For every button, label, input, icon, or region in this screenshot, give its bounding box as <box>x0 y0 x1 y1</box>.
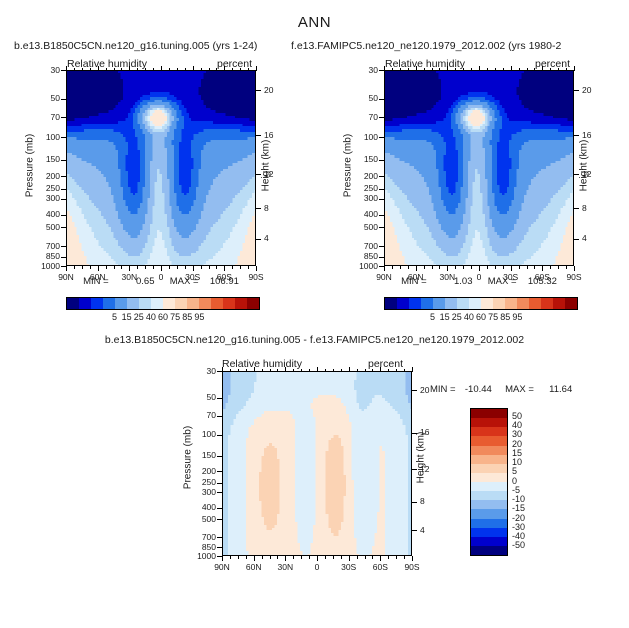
diff-lat-minor-tick-top <box>238 369 239 372</box>
diff-lat-minor-tick <box>238 556 239 559</box>
right-pressure-tickmark <box>379 99 384 100</box>
left-lat-minor-tick <box>161 266 162 269</box>
left-pressure-tick-label: 500 <box>26 222 60 232</box>
left-height-tickmark <box>256 239 261 240</box>
left-pressure-tickmark <box>61 189 66 190</box>
left-pressure-tickmark <box>61 99 66 100</box>
diff-height-tickmark <box>412 390 417 391</box>
left-variable-label: Relative humidity <box>67 58 147 70</box>
right-lat-minor-tick <box>550 266 551 269</box>
diff-pressure-tick-label: 1000 <box>182 551 216 561</box>
right-pressure-tick-label: 50 <box>344 93 378 103</box>
diff-lat-minor-tick-top <box>341 369 342 372</box>
left-lat-minor-tick <box>137 266 138 269</box>
colorbar-swatch <box>127 298 139 309</box>
colorbar-swatch <box>517 298 529 309</box>
right-height-tickmark <box>574 208 579 209</box>
diff-pressure-tickmark <box>217 537 222 538</box>
right-panel-title: f.e13.FAMIPC5.ne120_ne120.1979_2012.002 … <box>291 40 561 52</box>
left-lat-minor-tick-top <box>106 68 107 71</box>
diff-pressure-tick-label: 250 <box>182 477 216 487</box>
left-lat-minor-tick-top <box>153 68 154 71</box>
right-lat-minor-tick-top <box>471 68 472 71</box>
diff-lat-tick-label: 30N <box>267 562 303 572</box>
left-cross-section-plot[interactable] <box>66 70 256 266</box>
left-pressure-tickmark <box>61 176 66 177</box>
diff-lat-minor-tick-top <box>404 369 405 372</box>
diff-pressure-tickmark <box>217 435 222 436</box>
diff-lat-minor-tick-top <box>396 369 397 372</box>
left-height-tickmark <box>256 208 261 209</box>
colorbar-swatch <box>79 298 91 309</box>
right-height-tickmark <box>574 239 579 240</box>
colorbar-swatch <box>471 546 507 555</box>
colorbar-swatch <box>457 298 469 309</box>
diff-lat-minor-tick <box>230 556 231 559</box>
diff-lat-tick-label: 90N <box>204 562 240 572</box>
right-pressure-tick-label: 500 <box>344 222 378 232</box>
right-colorbar <box>384 297 578 310</box>
diff-lat-minor-tick <box>270 556 271 559</box>
left-pressure-tick-label: 200 <box>26 171 60 181</box>
diff-height-tickmark <box>412 469 417 470</box>
right-lat-minor-tick <box>392 266 393 269</box>
diff-lat-minor-tick-top <box>317 369 318 372</box>
left-lat-minor-tick-top <box>145 68 146 71</box>
diff-lat-minor-tick <box>246 556 247 559</box>
left-lat-minor-tick-top <box>169 68 170 71</box>
diff-lat-minor-tick-top <box>222 369 223 372</box>
left-lat-minor-tick-top <box>232 68 233 71</box>
right-height-tick-label: 4 <box>582 233 587 243</box>
left-lat-minor-tick-top <box>201 68 202 71</box>
diff-pressure-tick-label: 100 <box>182 429 216 439</box>
colorbar-swatch <box>151 298 163 309</box>
left-height-tick-label: 4 <box>264 233 269 243</box>
left-pressure-tick-label: 400 <box>26 209 60 219</box>
diff-lat-minor-tick <box>317 556 318 559</box>
colorbar-swatch <box>187 298 199 309</box>
colorbar-swatch <box>247 298 259 309</box>
diff-lat-minor-tick-top <box>254 369 255 372</box>
right-pressure-tick-label: 700 <box>344 241 378 251</box>
colorbar-swatch <box>433 298 445 309</box>
right-lat-minor-tick <box>511 266 512 269</box>
left-pressure-tickmark <box>61 137 66 138</box>
diff-height-tick-label: 8 <box>420 496 425 506</box>
colorbar-swatch <box>199 298 211 309</box>
diff-lat-tick-label: 60S <box>362 562 398 572</box>
right-pressure-tick-label: 200 <box>344 171 378 181</box>
diff-lat-minor-tick <box>309 556 310 559</box>
left-lat-minor-tick-top <box>114 68 115 71</box>
diff-lat-tick-label: 90S <box>394 562 430 572</box>
diff-pressure-tick-label: 500 <box>182 514 216 524</box>
colorbar-swatch <box>505 298 517 309</box>
left-lat-minor-tick <box>129 266 130 269</box>
colorbar-swatch <box>471 455 507 464</box>
diff-lat-minor-tick-top <box>230 369 231 372</box>
diff-height-tickmark <box>412 502 417 503</box>
diff-lat-minor-tick <box>285 556 286 559</box>
right-lat-minor-tick <box>384 266 385 269</box>
right-height-tick-label: 16 <box>582 130 591 140</box>
left-pressure-tickmark <box>61 257 66 258</box>
diff-lat-minor-tick-top <box>372 369 373 372</box>
left-height-tickmark <box>256 174 261 175</box>
diff-lat-minor-tick <box>341 556 342 559</box>
colorbar-swatch <box>471 500 507 509</box>
right-pressure-tick-label: 150 <box>344 154 378 164</box>
diff-pressure-tickmark <box>217 483 222 484</box>
right-lat-minor-tick <box>519 266 520 269</box>
diff-lat-minor-tick <box>325 556 326 559</box>
right-lat-minor-tick <box>503 266 504 269</box>
left-lat-minor-tick-top <box>82 68 83 71</box>
left-lat-minor-tick <box>232 266 233 269</box>
right-pressure-tickmark <box>379 117 384 118</box>
diff-lat-minor-tick <box>412 556 413 559</box>
right-pressure-tick-label: 250 <box>344 183 378 193</box>
colorbar-swatch <box>471 491 507 500</box>
right-lat-minor-tick <box>566 266 567 269</box>
right-lat-minor-tick-top <box>447 68 448 71</box>
diff-lat-minor-tick <box>333 556 334 559</box>
left-lat-tick-label: 30S <box>175 272 211 282</box>
diff-lat-tick-label: 0 <box>299 562 335 572</box>
diff-lat-minor-tick-top <box>365 369 366 372</box>
diff-lat-minor-tick-top <box>262 369 263 372</box>
left-pressure-tick-label: 250 <box>26 183 60 193</box>
left-pressure-tickmark <box>61 199 66 200</box>
left-pressure-tick-label: 50 <box>26 93 60 103</box>
diff-height-tickmark <box>412 433 417 434</box>
diff-lat-minor-tick-top <box>301 369 302 372</box>
right-lat-tick-label: 90S <box>556 272 592 282</box>
diff-lat-minor-tick-top <box>380 369 381 372</box>
right-height-tickmark <box>574 174 579 175</box>
right-lat-minor-tick-top <box>424 68 425 71</box>
diff-pressure-tickmark <box>217 416 222 417</box>
diff-max-value: 11.64 <box>549 384 572 395</box>
left-lat-tick-label: 60S <box>206 272 242 282</box>
right-pressure-tickmark <box>379 189 384 190</box>
colorbar-swatch <box>397 298 409 309</box>
right-lat-minor-tick <box>432 266 433 269</box>
left-height-tick-label: 16 <box>264 130 273 140</box>
diff-height-tick-label: 4 <box>420 525 425 535</box>
right-pressure-tick-label: 70 <box>344 112 378 122</box>
colorbar-swatch <box>163 298 175 309</box>
right-lat-minor-tick <box>487 266 488 269</box>
left-lat-minor-tick <box>240 266 241 269</box>
diff-lat-tick-label: 60N <box>236 562 272 572</box>
left-lat-minor-tick <box>74 266 75 269</box>
diff-lat-minor-tick <box>262 556 263 559</box>
diff-lat-minor-tick-top <box>357 369 358 372</box>
left-lat-minor-tick <box>256 266 257 269</box>
right-lat-minor-tick-top <box>384 68 385 71</box>
diff-pressure-tick-label: 300 <box>182 487 216 497</box>
right-pressure-tickmark <box>379 160 384 161</box>
diff-height-tick-label: 16 <box>420 427 429 437</box>
figure-season-title: ANN <box>0 14 629 31</box>
left-lat-minor-tick-top <box>224 68 225 71</box>
colorbar-swatch <box>529 298 541 309</box>
left-lat-minor-tick-top <box>74 68 75 71</box>
left-pressure-tick-label: 300 <box>26 193 60 203</box>
left-lat-tick-label: 30N <box>111 272 147 282</box>
right-lat-minor-tick-top <box>400 68 401 71</box>
right-height-tick-label: 12 <box>582 169 591 179</box>
diff-pressure-tick-label: 400 <box>182 502 216 512</box>
colorbar-swatch <box>471 446 507 455</box>
colorbar-swatch <box>175 298 187 309</box>
right-pressure-tickmark <box>379 176 384 177</box>
diff-lat-minor-tick-top <box>270 369 271 372</box>
colorbar-swatch <box>471 464 507 473</box>
left-lat-tick-label: 0 <box>143 272 179 282</box>
left-panel-title: b.e13.B1850C5CN.ne120_g16.tuning.005 (yr… <box>14 40 257 52</box>
left-pressure-tick-label: 700 <box>26 241 60 251</box>
right-lat-tick-label: 30S <box>493 272 529 282</box>
right-lat-minor-tick <box>495 266 496 269</box>
right-lat-minor-tick-top <box>463 68 464 71</box>
right-height-tick-label: 8 <box>582 203 587 213</box>
left-lat-minor-tick-top <box>161 68 162 71</box>
colorbar-swatch <box>421 298 433 309</box>
left-lat-minor-tick-top <box>248 68 249 71</box>
left-lat-minor-tick <box>216 266 217 269</box>
left-lat-minor-tick <box>66 266 67 269</box>
left-lat-minor-tick <box>177 266 178 269</box>
colorbar-swatch <box>223 298 235 309</box>
diff-lat-minor-tick <box>349 556 350 559</box>
right-lat-minor-tick <box>400 266 401 269</box>
left-lat-minor-tick <box>201 266 202 269</box>
diff-pressure-tickmark <box>217 492 222 493</box>
diff-lat-minor-tick-top <box>388 369 389 372</box>
left-lat-minor-tick-top <box>66 68 67 71</box>
colorbar-swatch <box>115 298 127 309</box>
right-lat-tick-label: 90N <box>366 272 402 282</box>
left-lat-minor-tick <box>209 266 210 269</box>
colorbar-swatch <box>471 482 507 491</box>
right-lat-minor-tick-top <box>432 68 433 71</box>
colorbar-swatch <box>385 298 397 309</box>
colorbar-swatch <box>409 298 421 309</box>
right-pressure-tickmark <box>379 257 384 258</box>
left-lat-minor-tick-top <box>185 68 186 71</box>
right-lat-tick-label: 60S <box>524 272 560 282</box>
left-pressure-tick-label: 70 <box>26 112 60 122</box>
diff-lat-minor-tick-top <box>246 369 247 372</box>
right-height-tickmark <box>574 90 579 91</box>
right-lat-minor-tick-top <box>534 68 535 71</box>
right-lat-minor-tick <box>439 266 440 269</box>
diff-lat-minor-tick-top <box>277 369 278 372</box>
left-lat-minor-tick-top <box>216 68 217 71</box>
left-contour-field <box>67 71 255 265</box>
diff-lat-minor-tick-top <box>293 369 294 372</box>
right-lat-minor-tick <box>416 266 417 269</box>
right-lat-minor-tick <box>455 266 456 269</box>
right-pressure-tick-label: 100 <box>344 132 378 142</box>
colorbar-swatch <box>235 298 247 309</box>
colorbar-swatch <box>469 298 481 309</box>
left-colorbar <box>66 297 260 310</box>
colorbar-swatch <box>471 519 507 528</box>
left-height-tickmark <box>256 135 261 136</box>
left-lat-minor-tick <box>121 266 122 269</box>
left-lat-minor-tick-top <box>193 68 194 71</box>
diff-pressure-tick-label: 50 <box>182 392 216 402</box>
right-lat-minor-tick <box>574 266 575 269</box>
left-lat-minor-tick <box>169 266 170 269</box>
diff-pressure-tickmark <box>217 547 222 548</box>
left-lat-minor-tick <box>98 266 99 269</box>
left-lat-tick-label: 90N <box>48 272 84 282</box>
right-lat-minor-tick-top <box>479 68 480 71</box>
left-lat-minor-tick <box>114 266 115 269</box>
diff-pressure-tickmark <box>217 456 222 457</box>
right-lat-minor-tick-top <box>408 68 409 71</box>
diff-lat-minor-tick <box>372 556 373 559</box>
right-lat-minor-tick <box>471 266 472 269</box>
left-lat-minor-tick <box>90 266 91 269</box>
colorbar-swatch <box>493 298 505 309</box>
right-cross-section-plot[interactable] <box>384 70 574 266</box>
diff-lat-minor-tick <box>277 556 278 559</box>
right-lat-minor-tick-top <box>495 68 496 71</box>
right-pressure-tickmark <box>379 246 384 247</box>
diff-lat-minor-tick <box>365 556 366 559</box>
colorbar-swatch <box>471 418 507 427</box>
colorbar-swatch <box>91 298 103 309</box>
diff-height-tick-label: 20 <box>420 385 429 395</box>
left-pressure-tick-label: 30 <box>26 65 60 75</box>
difference-cross-section-plot[interactable] <box>222 371 412 556</box>
diff-minmax: MIN = -10.44 MAX = 11.64 <box>430 384 572 395</box>
diff-pressure-tickmark <box>217 519 222 520</box>
left-lat-minor-tick <box>153 266 154 269</box>
left-lat-minor-tick <box>145 266 146 269</box>
colorbar-tick-label: 95 <box>501 312 533 322</box>
diff-lat-minor-tick <box>254 556 255 559</box>
left-pressure-tickmark <box>61 215 66 216</box>
left-pressure-tickmark <box>61 227 66 228</box>
colorbar-swatch <box>541 298 553 309</box>
right-units-label: percent <box>535 58 570 70</box>
right-lat-tick-label: 60N <box>398 272 434 282</box>
colorbar-swatch <box>471 528 507 537</box>
left-lat-tick-label: 90S <box>238 272 274 282</box>
left-lat-minor-tick <box>193 266 194 269</box>
diff-pressure-tick-label: 30 <box>182 366 216 376</box>
diff-lat-minor-tick <box>293 556 294 559</box>
right-lat-minor-tick-top <box>574 68 575 71</box>
diff-pressure-tick-label: 200 <box>182 466 216 476</box>
diff-pressure-tick-label: 70 <box>182 410 216 420</box>
difference-colorbar <box>470 408 508 556</box>
right-lat-minor-tick-top <box>392 68 393 71</box>
colorbar-swatch <box>445 298 457 309</box>
diff-lat-minor-tick-top <box>412 369 413 372</box>
right-lat-minor-tick-top <box>487 68 488 71</box>
left-lat-minor-tick <box>224 266 225 269</box>
diff-pressure-tickmark <box>217 508 222 509</box>
diff-pressure-tickmark <box>217 398 222 399</box>
right-lat-minor-tick <box>463 266 464 269</box>
right-lat-minor-tick-top <box>558 68 559 71</box>
left-pressure-tick-label: 150 <box>26 154 60 164</box>
left-height-tickmark <box>256 90 261 91</box>
diff-lat-minor-tick-top <box>309 369 310 372</box>
right-lat-minor-tick <box>424 266 425 269</box>
diff-lat-minor-tick <box>357 556 358 559</box>
diff-height-tick-label: 12 <box>420 464 429 474</box>
right-lat-minor-tick <box>558 266 559 269</box>
diff-lat-minor-tick <box>396 556 397 559</box>
right-pressure-tickmark <box>379 215 384 216</box>
colorbar-swatch <box>471 509 507 518</box>
diff-contour-field <box>223 372 411 555</box>
right-lat-minor-tick <box>542 266 543 269</box>
left-lat-minor-tick <box>248 266 249 269</box>
colorbar-swatch <box>103 298 115 309</box>
right-lat-tick-label: 30N <box>429 272 465 282</box>
right-lat-minor-tick <box>408 266 409 269</box>
right-pressure-tick-label: 400 <box>344 209 378 219</box>
left-lat-minor-tick <box>82 266 83 269</box>
colorbar-swatch <box>565 298 577 309</box>
left-lat-minor-tick-top <box>129 68 130 71</box>
colorbar-swatch <box>481 298 493 309</box>
diff-panel-title: b.e13.B1850C5CN.ne120_g16.tuning.005 - f… <box>0 334 629 346</box>
left-lat-minor-tick-top <box>209 68 210 71</box>
right-pressure-tickmark <box>379 227 384 228</box>
colorbar-tick-label: 95 <box>183 312 215 322</box>
diff-lat-minor-tick-top <box>325 369 326 372</box>
colorbar-swatch <box>67 298 79 309</box>
diff-lat-minor-tick <box>301 556 302 559</box>
diff-pressure-tick-label: 150 <box>182 450 216 460</box>
diff-max-label: MAX = <box>505 384 534 395</box>
left-lat-minor-tick-top <box>240 68 241 71</box>
left-lat-tick-label: 60N <box>80 272 116 282</box>
colorbar-swatch <box>471 436 507 445</box>
diff-pressure-tick-label: 700 <box>182 532 216 542</box>
diff-lat-minor-tick <box>222 556 223 559</box>
left-pressure-tick-label: 1000 <box>26 261 60 271</box>
right-pressure-tick-label: 1000 <box>344 261 378 271</box>
colorbar-swatch <box>139 298 151 309</box>
left-lat-minor-tick <box>106 266 107 269</box>
diff-lat-tick-label: 30S <box>331 562 367 572</box>
colorbar-swatch <box>471 427 507 436</box>
right-pressure-tick-label: 30 <box>344 65 378 75</box>
right-variable-label: Relative humidity <box>385 58 465 70</box>
left-units-label: percent <box>217 58 252 70</box>
right-pressure-tickmark <box>379 137 384 138</box>
left-height-tick-label: 8 <box>264 203 269 213</box>
right-lat-minor-tick <box>527 266 528 269</box>
right-contour-field <box>385 71 573 265</box>
left-lat-minor-tick <box>185 266 186 269</box>
left-pressure-tick-label: 100 <box>26 132 60 142</box>
right-height-tickmark <box>574 135 579 136</box>
diff-lat-minor-tick <box>380 556 381 559</box>
